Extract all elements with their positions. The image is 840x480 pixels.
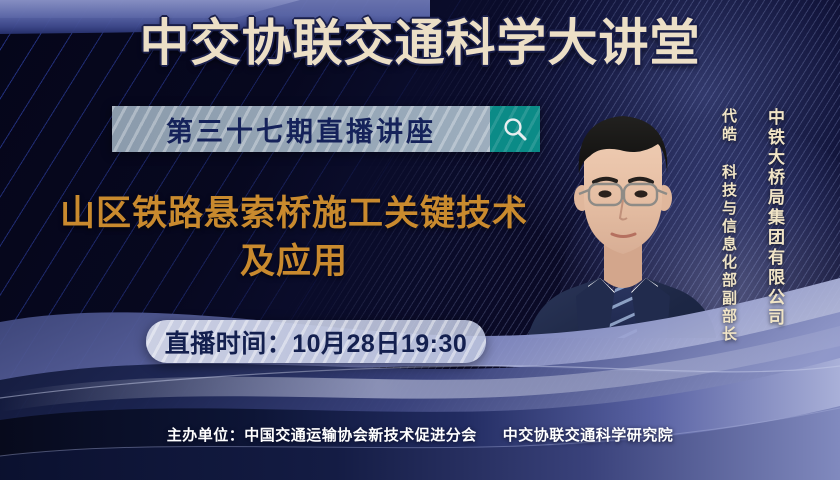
footer-prefix: 主办单位： (167, 427, 245, 444)
broadcast-time-badge: 直播时间：10月28日19:30 (146, 320, 486, 363)
speaker-organization: 中铁大桥局集团有限公司 (762, 108, 787, 328)
search-button[interactable] (490, 106, 540, 152)
search-icon (502, 116, 529, 143)
footer-organizers: 主办单位：中国交通运输协会新技术促进分会中交协联交通科学研究院 (0, 424, 840, 445)
episode-banner: 第三十七期直播讲座 (112, 106, 540, 152)
speaker-name-and-role: 代皓 科技与信息化部副部长 (718, 108, 739, 344)
page-title: 中交协联交通科学大讲堂 (0, 14, 840, 72)
footer-organizer-2: 中交协联交通科学研究院 (503, 427, 674, 444)
lecture-title-line1: 山区铁路悬索桥施工关键技术 (60, 194, 528, 233)
footer-organizer-1: 中国交通运输协会新技术促进分会 (244, 427, 477, 444)
lecture-title: 山区铁路悬索桥施工关键技术 及应用 (34, 190, 554, 286)
episode-label-strip: 第三十七期直播讲座 (112, 106, 490, 152)
lecture-title-line2: 及应用 (34, 238, 554, 286)
broadcast-time-text: 直播时间：10月28日19:30 (165, 324, 468, 360)
promo-poster: 中交协联交通科学大讲堂 第三十七期直播讲座 山区铁路悬索桥施工关键技术 及应用 … (0, 0, 840, 480)
episode-label: 第三十七期直播讲座 (166, 110, 436, 149)
silk-wave-decoration (0, 270, 840, 480)
